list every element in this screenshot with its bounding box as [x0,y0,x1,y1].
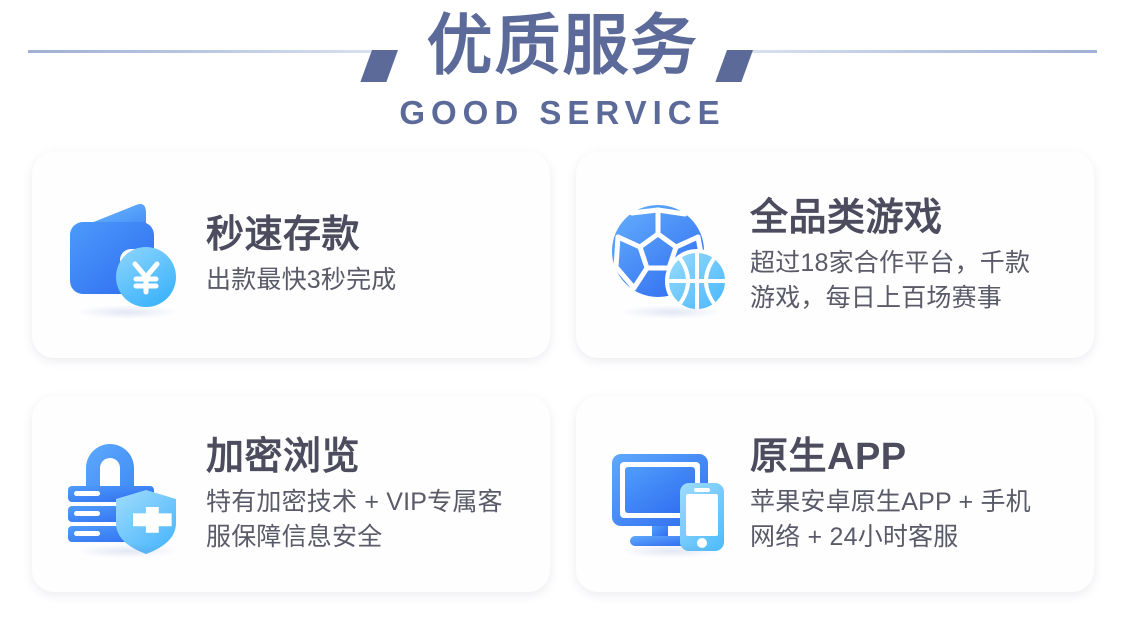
card-subtitle: 超过18家合作平台，千款 游戏，每日上百场赛事 [750,246,1080,316]
card-text-block: 加密浏览 特有加密技术 + VIP专属客 服保障信息安全 [190,434,550,555]
icon-shadow [620,544,723,558]
page-title: 优质服务 [0,4,1125,86]
feature-card-deposit[interactable]: 秒速存款 出款最快3秒完成 [32,152,550,358]
promo-banner: 优质服务 GOOD SERVICE [0,0,1125,630]
page-header: 优质服务 GOOD SERVICE [0,0,1125,146]
icon-shadow [76,305,179,319]
card-subtitle-line: 出款最快3秒完成 [206,263,536,298]
wallet-yen-icon [58,189,190,321]
feature-card-encryption[interactable]: 加密浏览 特有加密技术 + VIP专属客 服保障信息安全 [32,396,550,592]
lock-shield-icon [58,428,190,560]
feature-card-native-app[interactable]: 原生APP 苹果安卓原生APP + 手机 网络 + 24小时客服 [576,396,1094,592]
card-subtitle-line: 苹果安卓原生APP + 手机 [750,485,1080,520]
card-text-block: 秒速存款 出款最快3秒完成 [190,212,550,298]
feature-card-grid: 秒速存款 出款最快3秒完成 [32,152,1093,592]
card-title: 秒速存款 [206,212,536,258]
card-subtitle-line: 游戏，每日上百场赛事 [750,281,1080,316]
card-title: 全品类游戏 [750,195,1080,241]
card-title: 原生APP [750,434,1080,480]
card-subtitle-line: 服保障信息安全 [206,520,536,555]
card-subtitle: 出款最快3秒完成 [206,263,536,298]
feature-card-games[interactable]: 全品类游戏 超过18家合作平台，千款 游戏，每日上百场赛事 [576,152,1094,358]
monitor-phone-icon [602,428,734,560]
card-subtitle: 特有加密技术 + VIP专属客 服保障信息安全 [206,485,536,555]
soccer-basketball-icon [602,189,734,321]
card-subtitle-line: 超过18家合作平台，千款 [750,246,1080,281]
card-text-block: 原生APP 苹果安卓原生APP + 手机 网络 + 24小时客服 [734,434,1094,555]
card-text-block: 全品类游戏 超过18家合作平台，千款 游戏，每日上百场赛事 [734,195,1094,316]
card-title: 加密浏览 [206,434,536,480]
icon-shadow [76,544,179,558]
card-subtitle-line: 特有加密技术 + VIP专属客 [206,485,536,520]
card-subtitle: 苹果安卓原生APP + 手机 网络 + 24小时客服 [750,485,1080,555]
card-subtitle-line: 网络 + 24小时客服 [750,520,1080,555]
icon-shadow [620,305,723,319]
page-subtitle: GOOD SERVICE [0,94,1125,132]
